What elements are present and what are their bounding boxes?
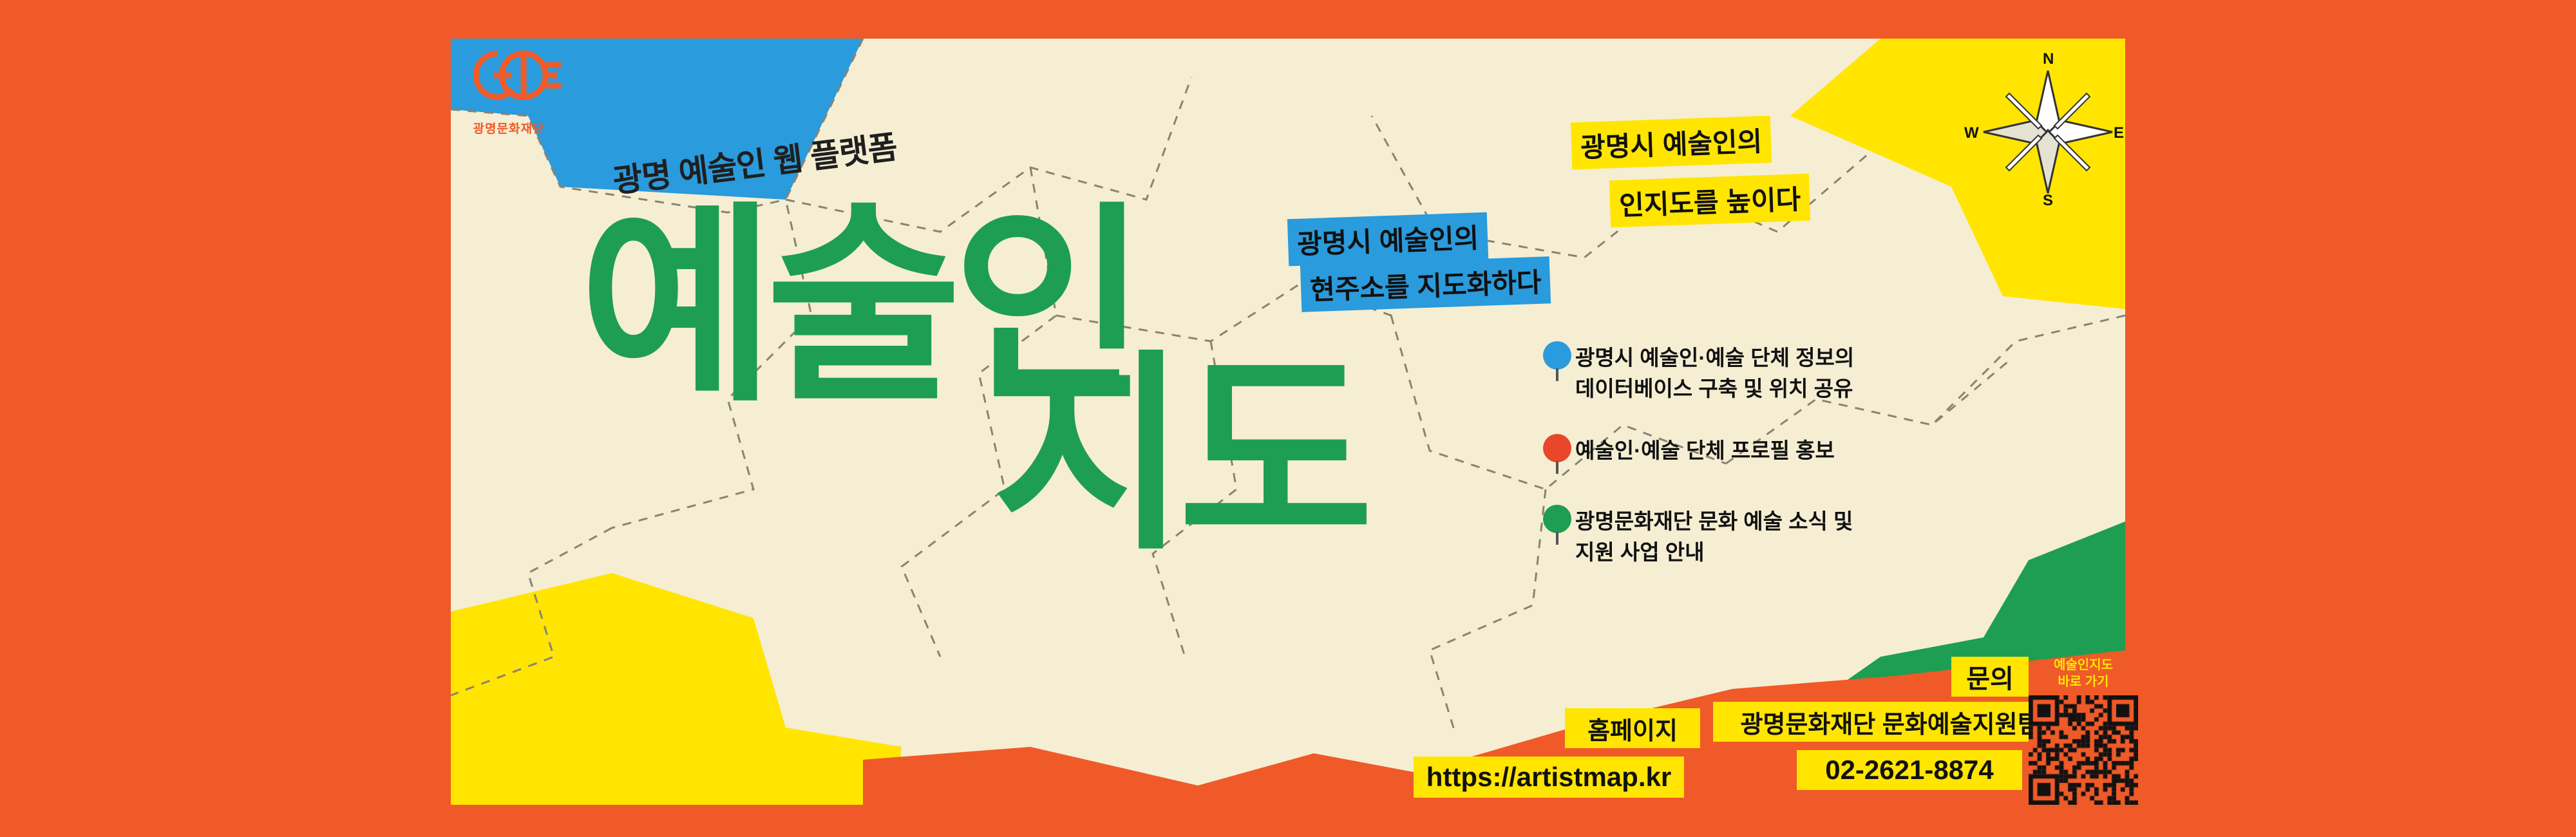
map-pin-icon [1539, 341, 1575, 382]
callout-blue-1: 광명시 예술인의 [1287, 212, 1489, 267]
callout-yellow-2-text: 인지도를 높이다 [1609, 174, 1811, 228]
list-item: 예술인·예술 단체 프로필 홍보 [1539, 434, 2041, 475]
list-item-line1: 광명문화재단 문화 예술 소식 및 [1575, 506, 1853, 537]
poster-root: 광명문화재단 광명 예술인 웹 플랫폼 예술인 지도 광명시 예술인의 현주소를… [0, 0, 2576, 837]
callout-blue-2: 현주소를 지도화하다 [1300, 256, 1551, 312]
team-label: 광명문화재단 문화예술지원팀 [1713, 702, 2067, 742]
gcf-logo-icon [448, 35, 570, 158]
callout-yellow-2: 인지도를 높이다 [1609, 174, 1811, 228]
map-pin-icon [1539, 505, 1575, 546]
callout-yellow-1-text: 광명시 예술인의 [1571, 116, 1772, 170]
list-item: 광명문화재단 문화 예술 소식 및 지원 사업 안내 [1539, 505, 2041, 568]
compass-south-label: S [2043, 192, 2053, 210]
callout-blue-1-text: 광명시 예술인의 [1287, 212, 1489, 267]
title-line-2: 지도 [992, 354, 1365, 556]
compass-east-label: E [2114, 124, 2124, 142]
qr-label-line2: 바로 가기 [2022, 673, 2145, 690]
map-pin-icon [1539, 434, 1575, 475]
qr-label-line1: 예술인지도 [2022, 657, 2145, 673]
feature-list: 광명시 예술인·예술 단체 정보의 데이터베이스 구축 및 위치 공유 예술인·… [1539, 341, 2041, 597]
compass-north-label: N [2043, 50, 2054, 68]
callout-blue-2-text: 현주소를 지도화하다 [1300, 256, 1551, 312]
qr-block: 예술인지도 바로 가기 [2022, 657, 2164, 805]
logo-caption: 광명문화재단 [444, 119, 573, 136]
website-url[interactable]: https://artistmap.kr [1414, 757, 1684, 798]
list-item-text: 예술인·예술 단체 프로필 홍보 [1575, 434, 1835, 466]
list-item-line2: 데이터베이스 구축 및 위치 공유 [1575, 373, 1854, 404]
list-item-line2: 지원 사업 안내 [1575, 537, 1853, 568]
homepage-label: 홈페이지 [1565, 708, 1700, 748]
compass-icon: N S E W [1971, 58, 2125, 206]
qr-label: 예술인지도 바로 가기 [2022, 657, 2145, 690]
list-item: 광명시 예술인·예술 단체 정보의 데이터베이스 구축 및 위치 공유 [1539, 341, 2041, 404]
phone-number: 02-2621-8874 [1797, 750, 2022, 790]
qr-code-icon[interactable] [2029, 695, 2138, 805]
list-item-text: 광명문화재단 문화 예술 소식 및 지원 사업 안내 [1575, 505, 1853, 568]
list-item-line1: 광명시 예술인·예술 단체 정보의 [1575, 343, 1854, 373]
list-item-line1: 예술인·예술 단체 프로필 홍보 [1575, 435, 1835, 466]
list-item-text: 광명시 예술인·예술 단체 정보의 데이터베이스 구축 및 위치 공유 [1575, 341, 1854, 404]
compass-west-label: W [1964, 124, 1979, 142]
inquiry-label: 문의 [1951, 657, 2029, 697]
callout-yellow-1: 광명시 예술인의 [1571, 116, 1772, 170]
